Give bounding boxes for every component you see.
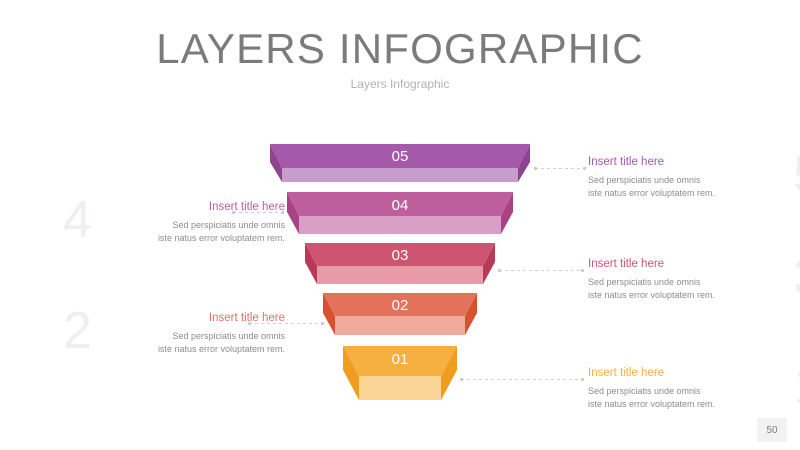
callout-3-body: Sed perspiciatis unde omnis iste natus e… [588, 276, 800, 301]
funnel-layer-04-number: 04 [392, 197, 409, 214]
callout-1-body: Sed perspiciatis unde omnis iste natus e… [588, 385, 800, 410]
connector-1 [460, 376, 584, 383]
callout-5: 5 Insert title here Sed perspiciatis und… [588, 155, 800, 199]
funnel-layer-01[interactable]: 01 [343, 346, 457, 400]
callout-3: 3 Insert title here Sed perspiciatis und… [588, 257, 800, 301]
funnel-layer-01-number: 01 [392, 351, 409, 368]
connector-2 [248, 320, 324, 327]
callout-4-watermark: 4 [63, 194, 92, 246]
funnel-layer-03[interactable]: 03 [305, 243, 495, 284]
funnel-layer-04[interactable]: 04 [287, 192, 513, 234]
funnel-layer-02[interactable]: 02 [323, 293, 477, 335]
page-subtitle: Layers Infographic [0, 77, 800, 91]
funnel-layer-02-number: 02 [392, 297, 409, 314]
connector-3 [498, 267, 584, 274]
callout-3-watermark: 3 [793, 251, 800, 303]
callout-1: 1 Insert title here Sed perspiciatis und… [588, 366, 800, 410]
funnel-layer-05-number: 05 [392, 148, 409, 165]
page-number-badge: 50 [757, 418, 787, 442]
callout-1-title: Insert title here [588, 366, 800, 381]
slide-canvas: LAYERS INFOGRAPHIC Layers Infographic 05… [0, 0, 800, 450]
callout-4: 4 Insert title here Sed perspiciatis und… [55, 200, 285, 244]
page-title: LAYERS INFOGRAPHIC [0, 25, 800, 73]
connector-4 [232, 209, 284, 216]
connector-5 [534, 165, 586, 172]
callout-2: 2 Insert title here Sed perspiciatis und… [55, 311, 285, 355]
funnel-layer-05[interactable]: 05 [270, 144, 530, 182]
callout-5-body: Sed perspiciatis unde omnis iste natus e… [588, 174, 800, 199]
callout-1-watermark: 1 [793, 360, 800, 412]
callout-5-watermark: 5 [793, 149, 800, 201]
funnel-layer-03-number: 03 [392, 247, 409, 264]
callout-2-watermark: 2 [63, 305, 92, 357]
callout-3-title: Insert title here [588, 257, 800, 272]
callout-5-title: Insert title here [588, 155, 800, 170]
